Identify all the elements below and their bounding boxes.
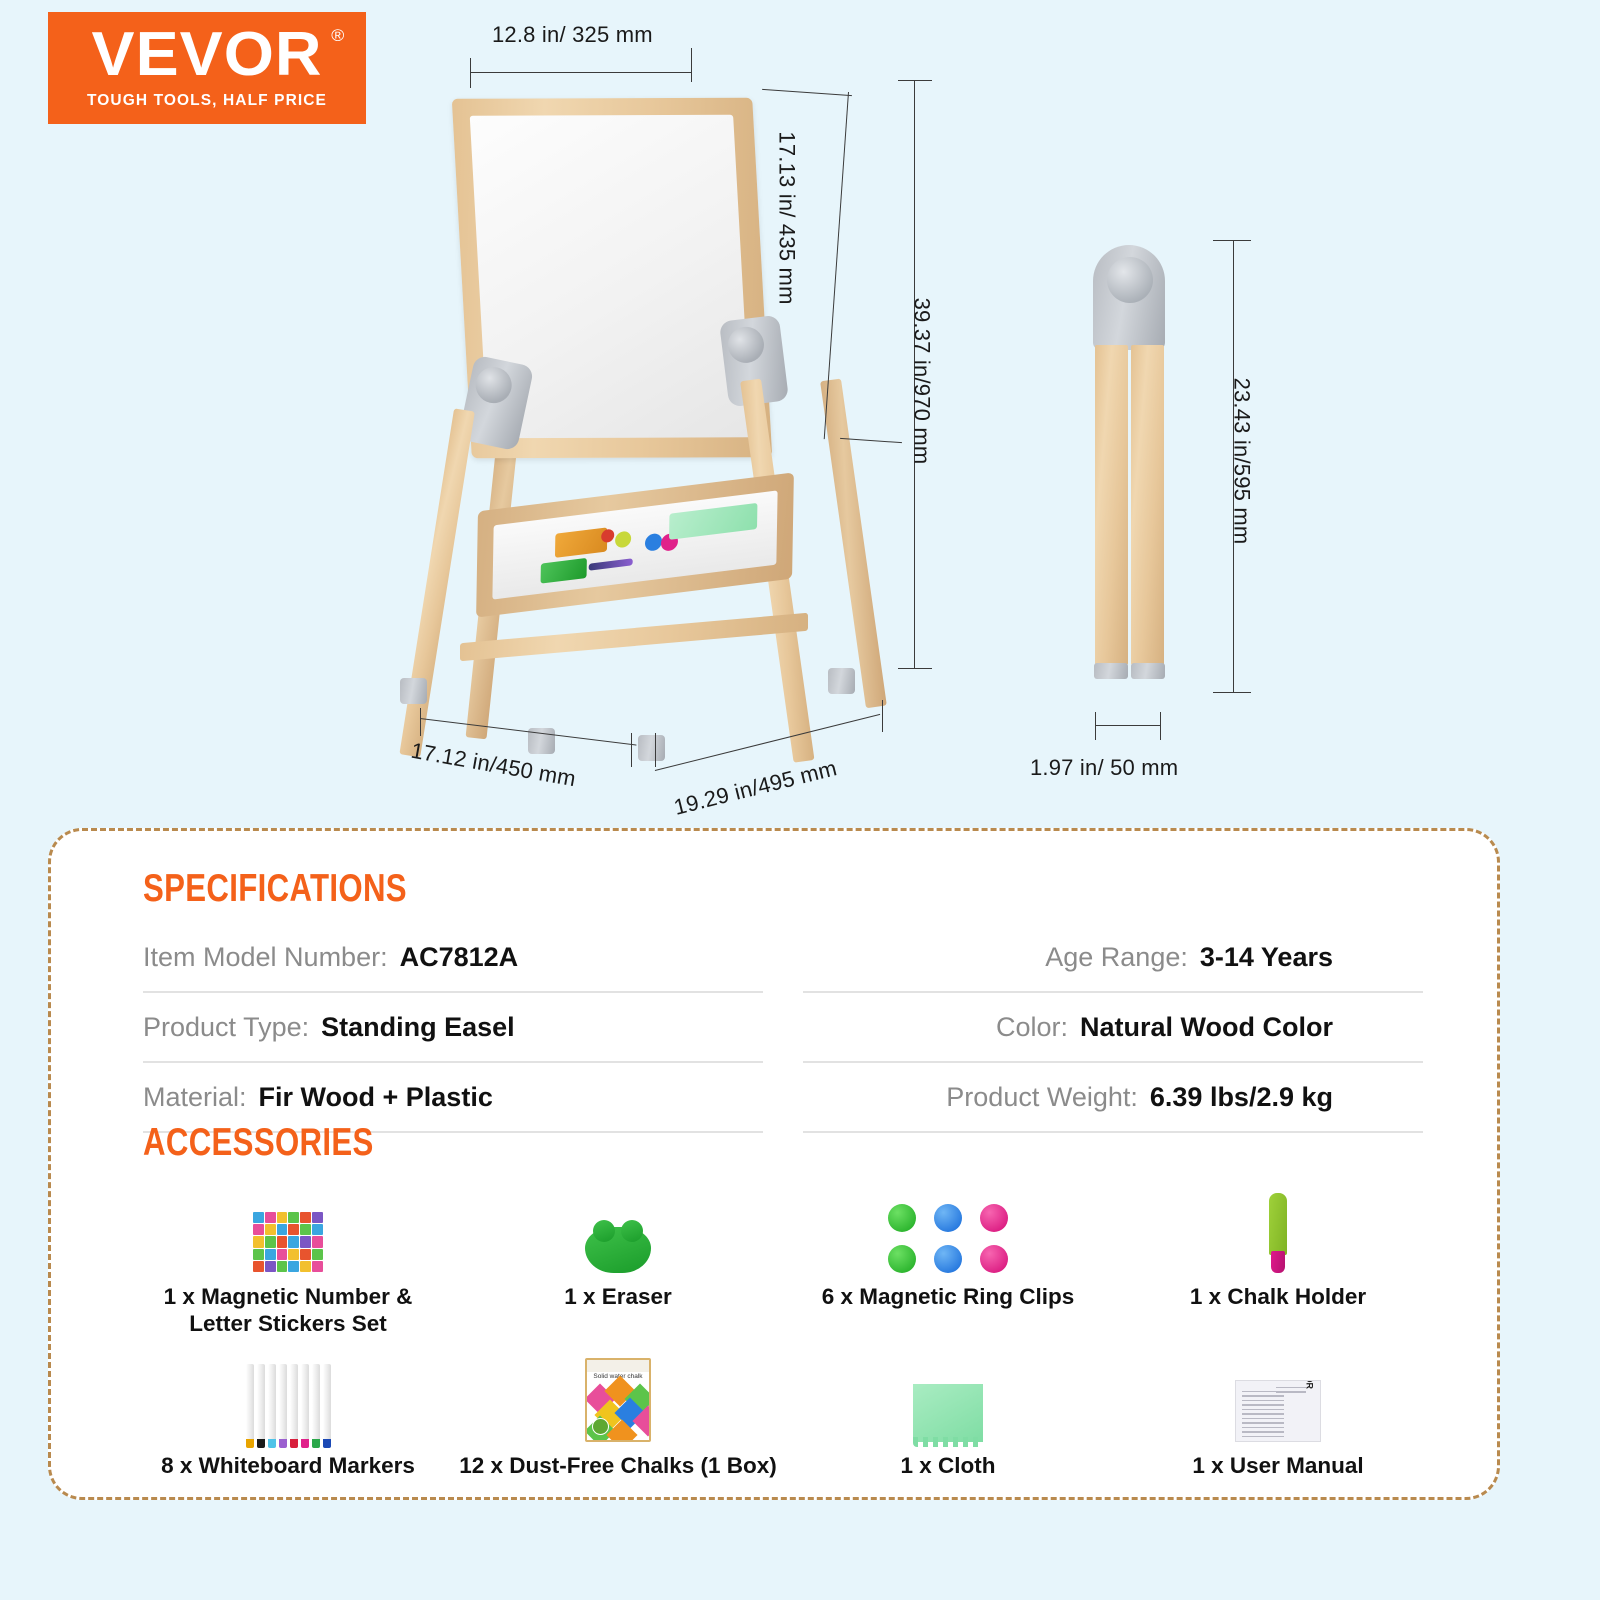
spec-row-product-weight: Product Weight: 6.39 lbs/2.9 kg	[803, 1063, 1423, 1133]
ring-clip-blue	[934, 1204, 962, 1232]
tray-cloth	[669, 503, 757, 540]
folded-foot-right	[1131, 663, 1165, 679]
tray-eraser	[541, 558, 587, 584]
marker	[290, 1364, 298, 1442]
spec-value: Standing Easel	[321, 1012, 515, 1043]
dim-label-folded-height: 23.43 in/595 mm	[1228, 378, 1254, 545]
eraser-shape	[585, 1227, 651, 1273]
ring-clip-blue	[934, 1245, 962, 1273]
easel-back-leg-right	[820, 379, 887, 709]
accessory-item: 1 x Magnetic Number & Letter Stickers Se…	[123, 1181, 453, 1338]
spec-row-product-type: Product Type: Standing Easel	[143, 993, 763, 1063]
accessory-item: 1 x Chalk Holder	[1113, 1181, 1443, 1338]
accessory-label: 1 x Chalk Holder	[1190, 1283, 1366, 1310]
spec-key: Age Range:	[1045, 942, 1188, 973]
dim-tick	[898, 80, 932, 81]
tray-magnet-red	[601, 529, 614, 544]
accessory-item: Solid water chalk 12 x Dust-Free Chalks …	[453, 1350, 783, 1479]
accessory-item: VEVOR 1 x User Manual	[1113, 1350, 1443, 1479]
accessories-title: ACCESSORIES	[143, 1121, 374, 1165]
ring-clips-group	[888, 1204, 1008, 1273]
dim-label-folded-width: 1.97 in/ 50 mm	[1030, 755, 1178, 781]
chalk-holder-icon	[1269, 1181, 1287, 1273]
marker	[279, 1364, 287, 1442]
dim-tick	[898, 668, 932, 669]
cloth-shape	[913, 1384, 983, 1442]
accessory-item: 1 x Cloth	[783, 1350, 1113, 1479]
hinge-knob-icon	[726, 325, 766, 365]
marker	[301, 1364, 309, 1442]
sticker-sheet-grid	[252, 1211, 324, 1273]
dim-tick	[420, 708, 421, 736]
folded-leg-right	[1131, 345, 1164, 665]
dim-tick	[631, 733, 632, 767]
hinge-knob-icon	[472, 364, 515, 407]
accessory-item: 8 x Whiteboard Markers	[123, 1350, 453, 1479]
dim-label-depth-right: 19.29 in/495 mm	[671, 755, 839, 821]
user-manual-icon: VEVOR	[1235, 1350, 1321, 1442]
accessory-label: 1 x Eraser	[564, 1283, 672, 1310]
accessory-label: 1 x Cloth	[900, 1452, 995, 1479]
tray-magnet-blue	[645, 533, 662, 552]
chalk-box-shape: Solid water chalk	[585, 1358, 651, 1442]
accessory-item: 1 x Eraser	[453, 1181, 783, 1338]
easel-front-leg-left	[399, 408, 474, 757]
chalk-holder-body	[1269, 1193, 1287, 1255]
marker	[312, 1364, 320, 1442]
chalk-box-badge-icon	[592, 1418, 609, 1435]
manual-header-lines	[1276, 1387, 1306, 1396]
spec-value: Fir Wood + Plastic	[259, 1082, 493, 1113]
chalk-box-cap	[587, 1360, 649, 1372]
dim-line-folded-width	[1095, 725, 1161, 726]
easel-crossbar-lower	[460, 613, 808, 661]
folded-hinge-dial-icon	[1107, 257, 1153, 303]
dim-tick	[691, 48, 692, 82]
spec-key: Item Model Number:	[143, 942, 388, 973]
spec-key: Product Weight:	[946, 1082, 1138, 1113]
specifications-title-wrap: SPECIFICATIONS	[143, 867, 473, 911]
manual-brand-text: VEVOR	[1305, 1380, 1315, 1389]
spec-value: AC7812A	[400, 942, 519, 973]
marker	[268, 1364, 276, 1442]
dim-tick	[470, 58, 471, 88]
accessories-title-wrap: ACCESSORIES	[143, 1121, 431, 1165]
dim-line-board-width	[470, 72, 692, 73]
marker	[257, 1364, 265, 1442]
dim-label-total-height: 39.37 in/970 mm	[908, 298, 934, 465]
user-manual-shape: VEVOR	[1235, 1380, 1321, 1442]
spec-row-color: Color: Natural Wood Color	[803, 993, 1423, 1063]
tray-marker	[589, 558, 633, 570]
easel-foot-back-right	[828, 668, 855, 694]
dim-label-board-width: 12.8 in/ 325 mm	[492, 22, 653, 48]
ring-clip-green	[888, 1245, 916, 1273]
folded-foot-left	[1094, 663, 1128, 679]
manual-text-lines	[1242, 1391, 1284, 1441]
accessory-label: 12 x Dust-Free Chalks (1 Box)	[459, 1452, 777, 1479]
spec-key: Material:	[143, 1082, 247, 1113]
spec-row-item-model-number: Item Model Number: AC7812A	[143, 923, 763, 993]
marker	[246, 1364, 254, 1442]
dim-tick	[1160, 712, 1161, 740]
specifications-title: SPECIFICATIONS	[143, 867, 407, 911]
dim-tick	[1213, 692, 1251, 693]
accessory-item: 6 x Magnetic Ring Clips	[783, 1181, 1113, 1338]
cloth-icon	[913, 1350, 983, 1442]
product-illustration: 12.8 in/ 325 mm 17.13 in/ 435 mm 39.37 i…	[0, 0, 1600, 830]
spec-value: 3-14 Years	[1200, 942, 1333, 973]
spec-key: Color:	[996, 1012, 1068, 1043]
easel-folded-view	[1085, 245, 1175, 695]
ring-clip-pink	[980, 1245, 1008, 1273]
spec-value: Natural Wood Color	[1080, 1012, 1333, 1043]
easel-foot-front-left	[400, 678, 427, 704]
accessory-label: 1 x User Manual	[1192, 1452, 1363, 1479]
markers-icon	[246, 1350, 331, 1442]
chalk-box-icon: Solid water chalk	[585, 1350, 651, 1442]
accessory-label: 6 x Magnetic Ring Clips	[822, 1283, 1075, 1310]
spec-row-age-range: Age Range: 3-14 Years	[803, 923, 1423, 993]
marker	[323, 1364, 331, 1442]
accessory-label: 1 x Magnetic Number & Letter Stickers Se…	[164, 1283, 413, 1338]
dim-tick	[882, 700, 883, 732]
chalk-holder-tip	[1271, 1251, 1285, 1273]
specifications-card: SPECIFICATIONS Item Model Number: AC7812…	[48, 828, 1500, 1500]
dim-tick	[1213, 240, 1251, 241]
tray-chalk-box	[555, 527, 607, 557]
chalk-holder-shape	[1269, 1193, 1287, 1273]
dim-tick	[655, 733, 656, 767]
tray-magnet-green	[615, 530, 631, 548]
eraser-icon	[585, 1181, 651, 1273]
accessory-tray	[484, 481, 786, 608]
folded-leg-left	[1095, 345, 1128, 665]
dim-label-board-height: 17.13 in/ 435 mm	[774, 131, 800, 304]
sticker-sheet-icon	[252, 1181, 324, 1273]
dim-line-depth-right	[655, 714, 880, 771]
accessory-label: 8 x Whiteboard Markers	[161, 1452, 415, 1479]
markers-group	[246, 1364, 331, 1442]
folded-hinge-cap	[1093, 245, 1165, 350]
accessories-grid: 1 x Magnetic Number & Letter Stickers Se…	[123, 1181, 1443, 1479]
easel-foot-front-right	[638, 735, 665, 761]
ring-clip-green	[888, 1204, 916, 1232]
dim-tick	[1095, 712, 1096, 740]
ring-clips-icon	[888, 1181, 1008, 1273]
easel-front-view	[390, 80, 910, 720]
spec-key: Product Type:	[143, 1012, 309, 1043]
ring-clip-pink	[980, 1204, 1008, 1232]
spec-value: 6.39 lbs/2.9 kg	[1150, 1082, 1333, 1113]
specifications-table: Item Model Number: AC7812A Age Range: 3-…	[143, 923, 1423, 1133]
